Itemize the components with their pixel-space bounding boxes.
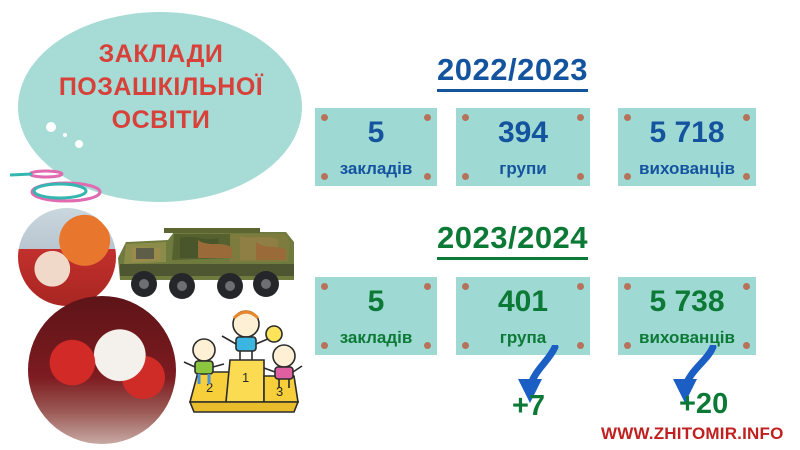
stat-card-pupils-2023[interactable]: 5 738 вихованців (618, 277, 756, 355)
ballroom-dancers-photo (28, 296, 176, 444)
year-heading-label: 2023/2024 (437, 220, 588, 260)
kids-on-winners-podium-illustration-icon: 2 1 3 (178, 298, 306, 418)
gymnastic-hoops-decoration-icon (2, 165, 112, 210)
child-with-basketball-photo (18, 208, 116, 306)
page-title: ЗАКЛАДИ ПОЗАШКІЛЬНОЇ ОСВІТИ (26, 38, 296, 137)
stat-caption: групи (456, 159, 590, 179)
stat-card-groups-2022[interactable]: 394 групи (456, 108, 590, 186)
stat-card-institutions-2022[interactable]: 5 закладів (315, 108, 437, 186)
stat-value: 394 (456, 116, 590, 150)
year-heading-2022-2023: 2022/2023 (437, 52, 588, 88)
stat-value: 5 738 (618, 285, 756, 319)
stat-caption: закладів (315, 328, 437, 348)
page-title-line-1: ЗАКЛАДИ (26, 38, 296, 71)
watermark: WWW.ZHITOMIR.INFO (601, 424, 784, 444)
delta-groups-label: +7 (512, 390, 545, 423)
stat-caption: вихованців (618, 159, 756, 179)
decorative-dot-icon (75, 140, 83, 148)
page-title-line-3: ОСВІТИ (26, 104, 296, 137)
svg-text:1: 1 (242, 370, 249, 385)
stat-value: 5 (315, 285, 437, 319)
stat-caption: закладів (315, 159, 437, 179)
year-heading-label: 2022/2023 (437, 52, 588, 92)
stat-card-pupils-2022[interactable]: 5 718 вихованців (618, 108, 756, 186)
stat-value: 5 718 (618, 116, 756, 150)
infographic-slide: ЗАКЛАДИ ПОЗАШКІЛЬНОЇ ОСВІТИ (0, 0, 800, 450)
stat-card-institutions-2023[interactable]: 5 закладів (315, 277, 437, 355)
year-heading-2023-2024: 2023/2024 (437, 220, 588, 256)
delta-pupils-label: +20 (679, 388, 728, 421)
page-title-line-2: ПОЗАШКІЛЬНОЇ (26, 71, 296, 104)
stat-value: 5 (315, 116, 437, 150)
stat-card-groups-2023[interactable]: 401 група (456, 277, 590, 355)
stat-value: 401 (456, 285, 590, 319)
